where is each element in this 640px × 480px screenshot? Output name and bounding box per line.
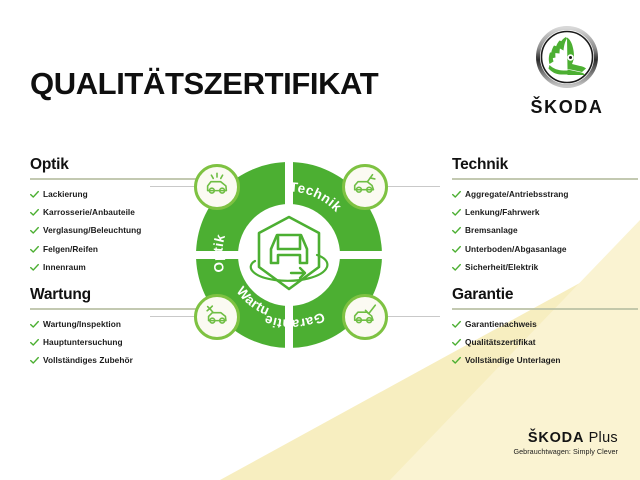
brand-wordmark: ŠKODA (519, 97, 615, 118)
list-item: Aggregate/Antriebsstrang (452, 189, 638, 200)
list-item-label: Verglasung/Beleuchtung (43, 225, 141, 236)
list-item-label: Unterboden/Abgasanlage (465, 244, 567, 255)
check-icon (452, 263, 461, 272)
check-icon (452, 356, 461, 365)
check-icon (452, 208, 461, 217)
car-check-icon (350, 300, 380, 335)
list-item-label: Hauptuntersuchung (43, 337, 123, 348)
footer-brand-name-row: ŠKODA Plus (513, 430, 618, 446)
checklist-technik: Aggregate/Antriebsstrang Lenkung/Fahrwer… (452, 189, 638, 273)
connector-line-technik (386, 186, 440, 187)
badge-optik[interactable] (194, 164, 240, 210)
list-item-label: Sicherheit/Elektrik (465, 262, 538, 273)
check-icon (30, 263, 39, 272)
section-heading-garantie: Garantie (452, 286, 638, 303)
list-item-label: Garantienachweis (465, 319, 537, 330)
section-rule-technik (452, 178, 638, 180)
check-icon (30, 208, 39, 217)
list-item: Qualitätszertifikat (452, 337, 638, 348)
badge-technik[interactable] (342, 164, 388, 210)
footer-brand-name: ŠKODA (528, 430, 584, 446)
list-item: Sicherheit/Elektrik (452, 262, 638, 273)
brand-logo: ŠKODA (519, 26, 615, 118)
connector-line-garantie (386, 316, 440, 317)
check-icon (30, 190, 39, 199)
footer-tagline: Gebrauchtwagen: Simply Clever (513, 447, 618, 456)
list-item: Lenkung/Fahrwerk (452, 207, 638, 218)
list-item-label: Innenraum (43, 262, 86, 273)
badge-wartung[interactable] (194, 294, 240, 340)
list-item-label: Lenkung/Fahrwerk (465, 207, 540, 218)
check-icon (452, 245, 461, 254)
section-rule-garantie (452, 308, 638, 310)
page-title: QUALITÄTSZERTIFIKAT (30, 66, 378, 102)
car-wrench-icon (202, 300, 232, 335)
list-item: Garantienachweis (452, 319, 638, 330)
section-technik: Technik Aggregate/Antriebsstrang Lenkung… (452, 156, 638, 280)
footer-brand: ŠKODA Plus Gebrauchtwagen: Simply Clever (513, 430, 618, 456)
check-icon (452, 338, 461, 347)
list-item-label: Karrosserie/Anbauteile (43, 207, 135, 218)
check-icon (30, 338, 39, 347)
check-icon (452, 226, 461, 235)
check-icon (30, 320, 39, 329)
check-icon (30, 356, 39, 365)
car-lift-icon (350, 170, 380, 205)
badge-garantie[interactable] (342, 294, 388, 340)
list-item-label: Qualitätszertifikat (465, 337, 536, 348)
wheel-label-optik: Optik (210, 232, 228, 273)
list-item-label: Wartung/Inspektion (43, 319, 121, 330)
check-icon (30, 226, 39, 235)
list-item: Bremsanlage (452, 225, 638, 236)
list-item-label: Vollständiges Zubehör (43, 355, 133, 366)
car-shine-icon (202, 170, 232, 205)
check-icon (452, 320, 461, 329)
list-item-label: Vollständige Unterlagen (465, 355, 561, 366)
certificate-page: QUALITÄTSZERTIFIKAT (0, 0, 640, 480)
list-item-label: Felgen/Reifen (43, 244, 98, 255)
footer-brand-suffix: Plus (589, 430, 618, 446)
checklist-garantie: Garantienachweis Qualitätszertifikat Vol… (452, 319, 638, 367)
list-item-label: Lackierung (43, 189, 88, 200)
list-item: Unterboden/Abgasanlage (452, 244, 638, 255)
section-garantie: Garantie Garantienachweis Qualitätszerti… (452, 286, 638, 374)
list-item-label: Bremsanlage (465, 225, 518, 236)
check-icon (30, 245, 39, 254)
section-heading-technik: Technik (452, 156, 638, 173)
skoda-winged-arrow-logo-icon (519, 26, 615, 93)
list-item-label: Aggregate/Antriebsstrang (465, 189, 569, 200)
check-icon (452, 190, 461, 199)
list-item: Vollständige Unterlagen (452, 355, 638, 366)
